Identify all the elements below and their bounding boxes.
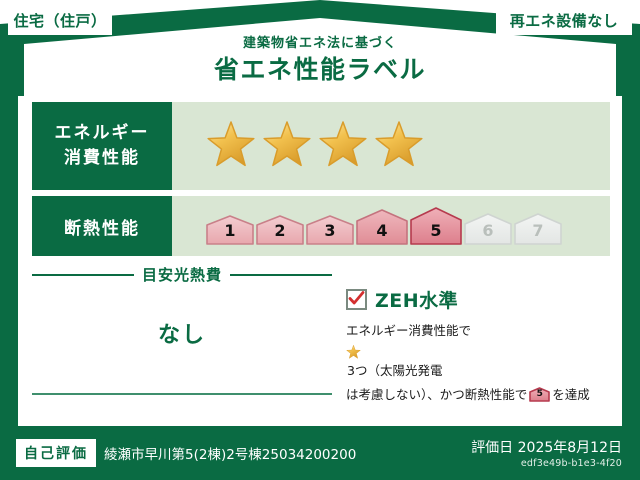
energy-performance-label-box: エネルギー 消費性能 (32, 102, 172, 190)
footer-right-group: 評価日 2025年8月12日 edf3e49b-b1e3-4f20 (471, 437, 622, 469)
title-subtitle: 建築物省エネ法に基づく (0, 36, 640, 52)
utility-cost-heading: 目安光熱費 (142, 264, 222, 285)
zeh-standard-section: ZEH水準 エネルギー消費性能で3つ（太陽光発電 は考慮しない）、かつ断熱性能で… (346, 286, 610, 406)
zeh-title-row: ZEH水準 (346, 286, 610, 313)
insulation-performance-value: 1234567 (172, 196, 610, 256)
insulation-performance-row: 断熱性能 1234567 (32, 196, 610, 256)
insulation-grade-2: 2 (256, 215, 304, 245)
utility-cost-heading-row: 目安光熱費 (32, 264, 332, 285)
evaluation-date: 評価日 2025年8月12日 (471, 437, 622, 457)
self-evaluation-badge: 自己評価 (16, 439, 96, 467)
badge-renewable-energy-label: 再エネ設備なし (510, 10, 619, 31)
insulation-performance-label: 断熱性能 (64, 214, 140, 239)
insulation-grade-4: 4 (356, 209, 408, 245)
divider-right (230, 274, 332, 276)
energy-performance-label-line1: エネルギー (55, 121, 150, 146)
energy-performance-label-line2: 消費性能 (64, 146, 140, 171)
page-title-block: 建築物省エネ法に基づく 省エネ性能ラベル (0, 36, 640, 87)
insulation-grade-scale: 1234567 (206, 207, 562, 245)
insulation-grade-1: 1 (206, 215, 254, 245)
insulation-grade-6: 6 (464, 213, 512, 245)
house-chevron-icon-inline: 5 (529, 387, 550, 402)
document-hash: edf3e49b-b1e3-4f20 (471, 458, 622, 469)
building-identifier: 綾瀬市早川第5(2棟)2号棟25034200200 (104, 443, 356, 463)
insulation-performance-label-box: 断熱性能 (32, 196, 172, 256)
zeh-desc-line2-b: を達成 (552, 387, 590, 402)
zeh-desc-line1-a: エネルギー消費性能で (346, 323, 471, 338)
zeh-desc-line2-a: は考慮しない）、かつ断熱性能で (346, 387, 527, 402)
badge-housing-type: 住宅（住戸） (8, 6, 112, 35)
insulation-grade-3: 3 (306, 215, 354, 245)
badge-housing-type-label: 住宅（住戸） (13, 10, 106, 31)
label-footer: 自己評価 綾瀬市早川第5(2棟)2号棟25034200200 評価日 2025年… (0, 426, 640, 480)
energy-performance-value (172, 102, 610, 190)
energy-performance-row: エネルギー 消費性能 (32, 102, 610, 190)
zeh-desc-line1-b: 3つ（太陽光発電 (347, 363, 442, 378)
star-icon (374, 121, 424, 171)
star-icon (206, 121, 256, 171)
star-icon (262, 121, 312, 171)
zeh-standard-description: エネルギー消費性能で3つ（太陽光発電 は考慮しない）、かつ断熱性能で5を達成 (346, 320, 610, 406)
check-icon (346, 289, 367, 310)
insulation-grade-7: 7 (514, 213, 562, 245)
zeh-standard-title: ZEH水準 (375, 286, 458, 313)
insulation-grade-5: 5 (410, 207, 462, 245)
footer-left-group: 自己評価 綾瀬市早川第5(2棟)2号棟25034200200 (16, 439, 356, 467)
utility-cost-section: 目安光熱費 なし (32, 264, 332, 349)
page-title: 省エネ性能ラベル (0, 54, 640, 87)
label-content-panel: エネルギー 消費性能 断熱性能 1234567 目安光熱費 なし (18, 96, 622, 426)
divider-left (32, 274, 134, 276)
star-rating (206, 121, 424, 171)
badge-renewable-energy: 再エネ設備なし (496, 6, 632, 35)
utility-cost-bottom-divider (32, 393, 332, 395)
star-icon (318, 121, 368, 171)
star-icon-inline (346, 345, 610, 360)
energy-performance-label: 住宅（住戸） 再エネ設備なし 建築物省エネ法に基づく 省エネ性能ラベル エネルギ… (0, 0, 640, 480)
insulation-grade-number-inline: 5 (529, 387, 550, 402)
utility-cost-value: なし (32, 317, 332, 349)
